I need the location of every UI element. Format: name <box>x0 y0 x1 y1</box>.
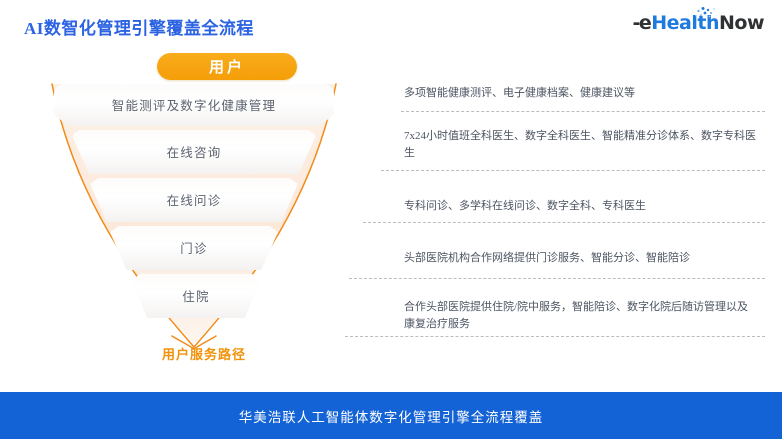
funnel-stage-3-label: 在线问诊 <box>167 190 222 209</box>
funnel-stage-5-label: 住院 <box>182 286 209 305</box>
funnel-path-label: 用户服务路径 <box>142 344 266 363</box>
page-title: AI数智化管理引擎覆盖全流程 <box>24 14 254 39</box>
funnel-stage-5[interactable]: 住院 <box>132 274 260 318</box>
slide-canvas: AI数智化管理引擎覆盖全流程 -eHealthNow <box>0 0 782 439</box>
logo-now-text: Now <box>719 12 764 34</box>
footer-banner: 华美浩联人工智能体数字化管理引擎全流程覆盖 <box>0 392 782 439</box>
funnel-diagram: 用户 智能测评及数字化健康管理 在线咨询 在线问诊 门诊 住院 用户服务路径 <box>44 44 364 374</box>
funnel-stage-2[interactable]: 在线咨询 <box>72 130 316 174</box>
divider-2 <box>381 170 765 171</box>
funnel-stage-2-label: 在线咨询 <box>167 142 222 161</box>
funnel-top-pill[interactable]: 用户 <box>157 53 297 80</box>
description-list: 多项智能健康测评、电子健康档案、健康建议等 7x24小时值班全科医生、数字全科医… <box>345 82 765 352</box>
funnel-top-pill-label: 用户 <box>209 56 245 77</box>
divider-1 <box>401 111 765 112</box>
brand-logo: -eHealthNow <box>632 8 764 38</box>
footer-text: 华美浩联人工智能体数字化管理引擎全流程覆盖 <box>239 406 544 426</box>
description-text-5: 合作头部医院提供住院/院中服务，智能陪诊、数字化院后随访管理以及康复治疗服务 <box>404 299 756 333</box>
funnel-stage-4[interactable]: 门诊 <box>110 226 278 270</box>
divider-3 <box>363 222 765 223</box>
logo-e-letter: e <box>639 12 651 34</box>
funnel-stage-3[interactable]: 在线问诊 <box>90 178 298 222</box>
divider-5 <box>345 336 765 337</box>
funnel-stage-1-label: 智能测评及数字化健康管理 <box>112 95 276 114</box>
description-text-3: 专科问诊、多学科在线问诊、数字全科、专科医生 <box>404 198 756 215</box>
sparkle-icon <box>690 7 716 19</box>
funnel-stage-1[interactable]: 智能测评及数字化健康管理 <box>54 84 334 126</box>
description-text-1: 多项智能健康测评、电子健康档案、健康建议等 <box>404 85 756 102</box>
description-text-4: 头部医院机构合作网络提供门诊服务、智能分诊、智能陪诊 <box>404 250 756 267</box>
description-text-2: 7x24小时值班全科医生、数字全科医生、智能精准分诊体系、数字专科医生 <box>404 128 756 162</box>
divider-4 <box>349 278 765 279</box>
funnel-stage-4-label: 门诊 <box>180 238 207 257</box>
